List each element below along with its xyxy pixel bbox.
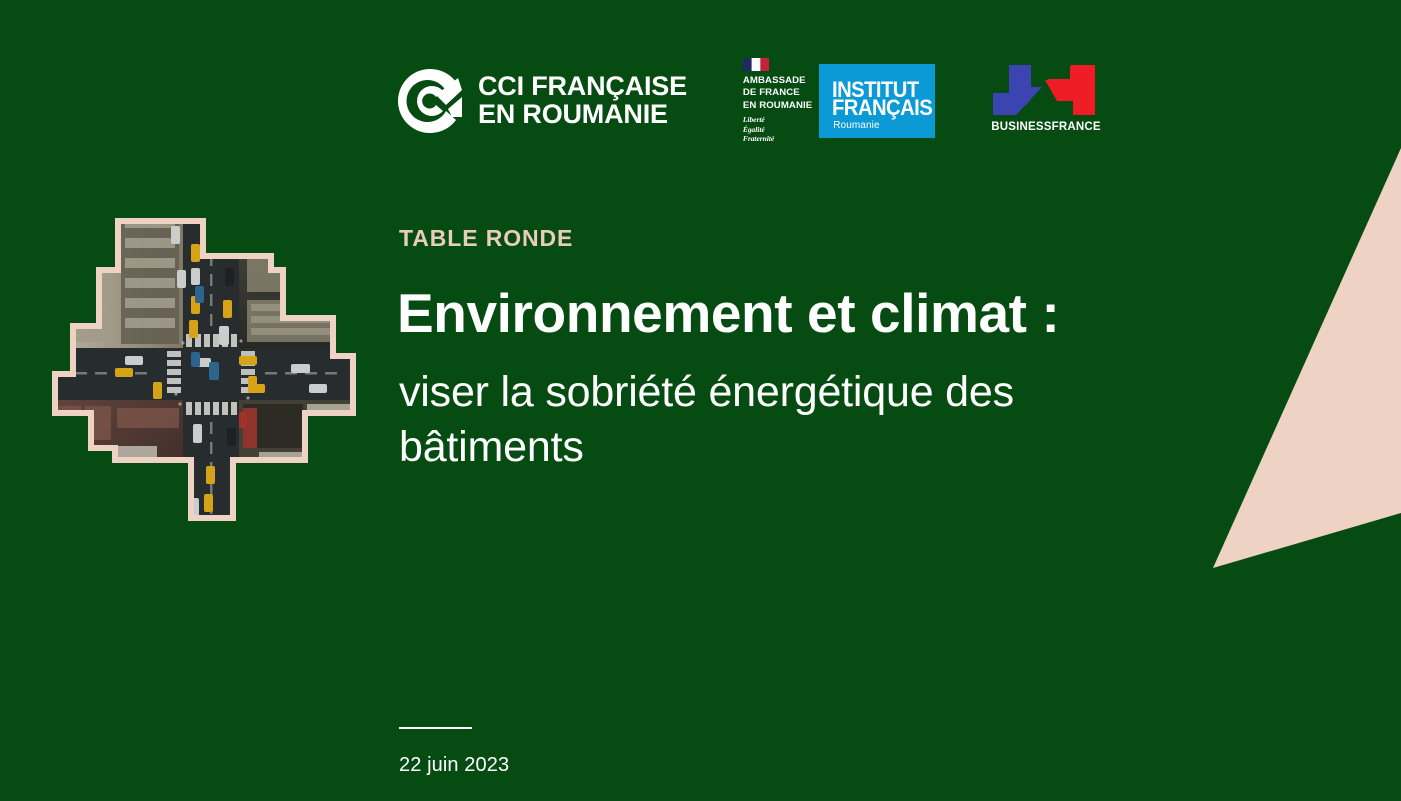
cci-francaise-en-roumanie-logo: CCI FRANÇAISE EN ROUMANIE xyxy=(396,65,687,137)
institut-francais-roumanie-logo: INSTITUT FRANÇAIS Roumanie xyxy=(819,64,935,138)
ambassade-line3: EN ROUMANIE xyxy=(743,100,812,112)
event-date: 22 juin 2023 xyxy=(399,754,509,777)
ambassade-wordmark: AMBASSADE DE FRANCE EN ROUMANIE xyxy=(743,75,812,112)
slide-root: CCI FRANÇAISE EN ROUMANIE AMBASSADE DE F… xyxy=(0,0,1401,801)
beige-triangle-decoration xyxy=(1201,0,1401,600)
institut-subtitle: Roumanie xyxy=(833,120,879,131)
business-france-arrows-icon xyxy=(989,63,1099,121)
cci-wordmark: CCI FRANÇAISE EN ROUMANIE xyxy=(478,73,687,128)
footer-divider xyxy=(399,727,472,729)
page-title: Environnement et climat : xyxy=(397,285,1059,343)
motto-egalite: Égalité xyxy=(743,125,812,135)
institut-line2: FRANÇAIS xyxy=(832,97,932,119)
page-subtitle-line2: bâtiments xyxy=(399,420,1119,475)
ambassade-line2: DE FRANCE xyxy=(743,87,812,99)
cci-wordmark-line2: EN ROUMANIE xyxy=(478,101,687,129)
ambassade-de-france-en-roumanie-logo: AMBASSADE DE FRANCE EN ROUMANIE Liberté … xyxy=(743,58,812,144)
french-flag-icon xyxy=(743,58,769,71)
eyebrow-label: TABLE RONDE xyxy=(399,225,573,252)
cci-emblem-icon xyxy=(396,65,464,137)
page-subtitle-line1: viser la sobriété énergétique des xyxy=(399,365,1119,420)
republic-motto: Liberté Égalité Fraternité xyxy=(743,115,812,144)
motto-liberte: Liberté xyxy=(743,115,812,125)
business-france-wordmark: BUSINESSFRANCE xyxy=(991,121,1101,133)
ambassade-line1: AMBASSADE xyxy=(743,75,812,87)
business-france-logo: BUSINESSFRANCE xyxy=(989,63,1099,139)
logo-bar: CCI FRANÇAISE EN ROUMANIE AMBASSADE DE F… xyxy=(396,58,1099,144)
motto-fraternite: Fraternité xyxy=(743,134,812,144)
aerial-street-intersection-photo xyxy=(43,208,365,528)
cci-wordmark-line1: CCI FRANÇAISE xyxy=(478,73,687,101)
page-subtitle: viser la sobriété énergétique des bâtime… xyxy=(399,365,1119,475)
